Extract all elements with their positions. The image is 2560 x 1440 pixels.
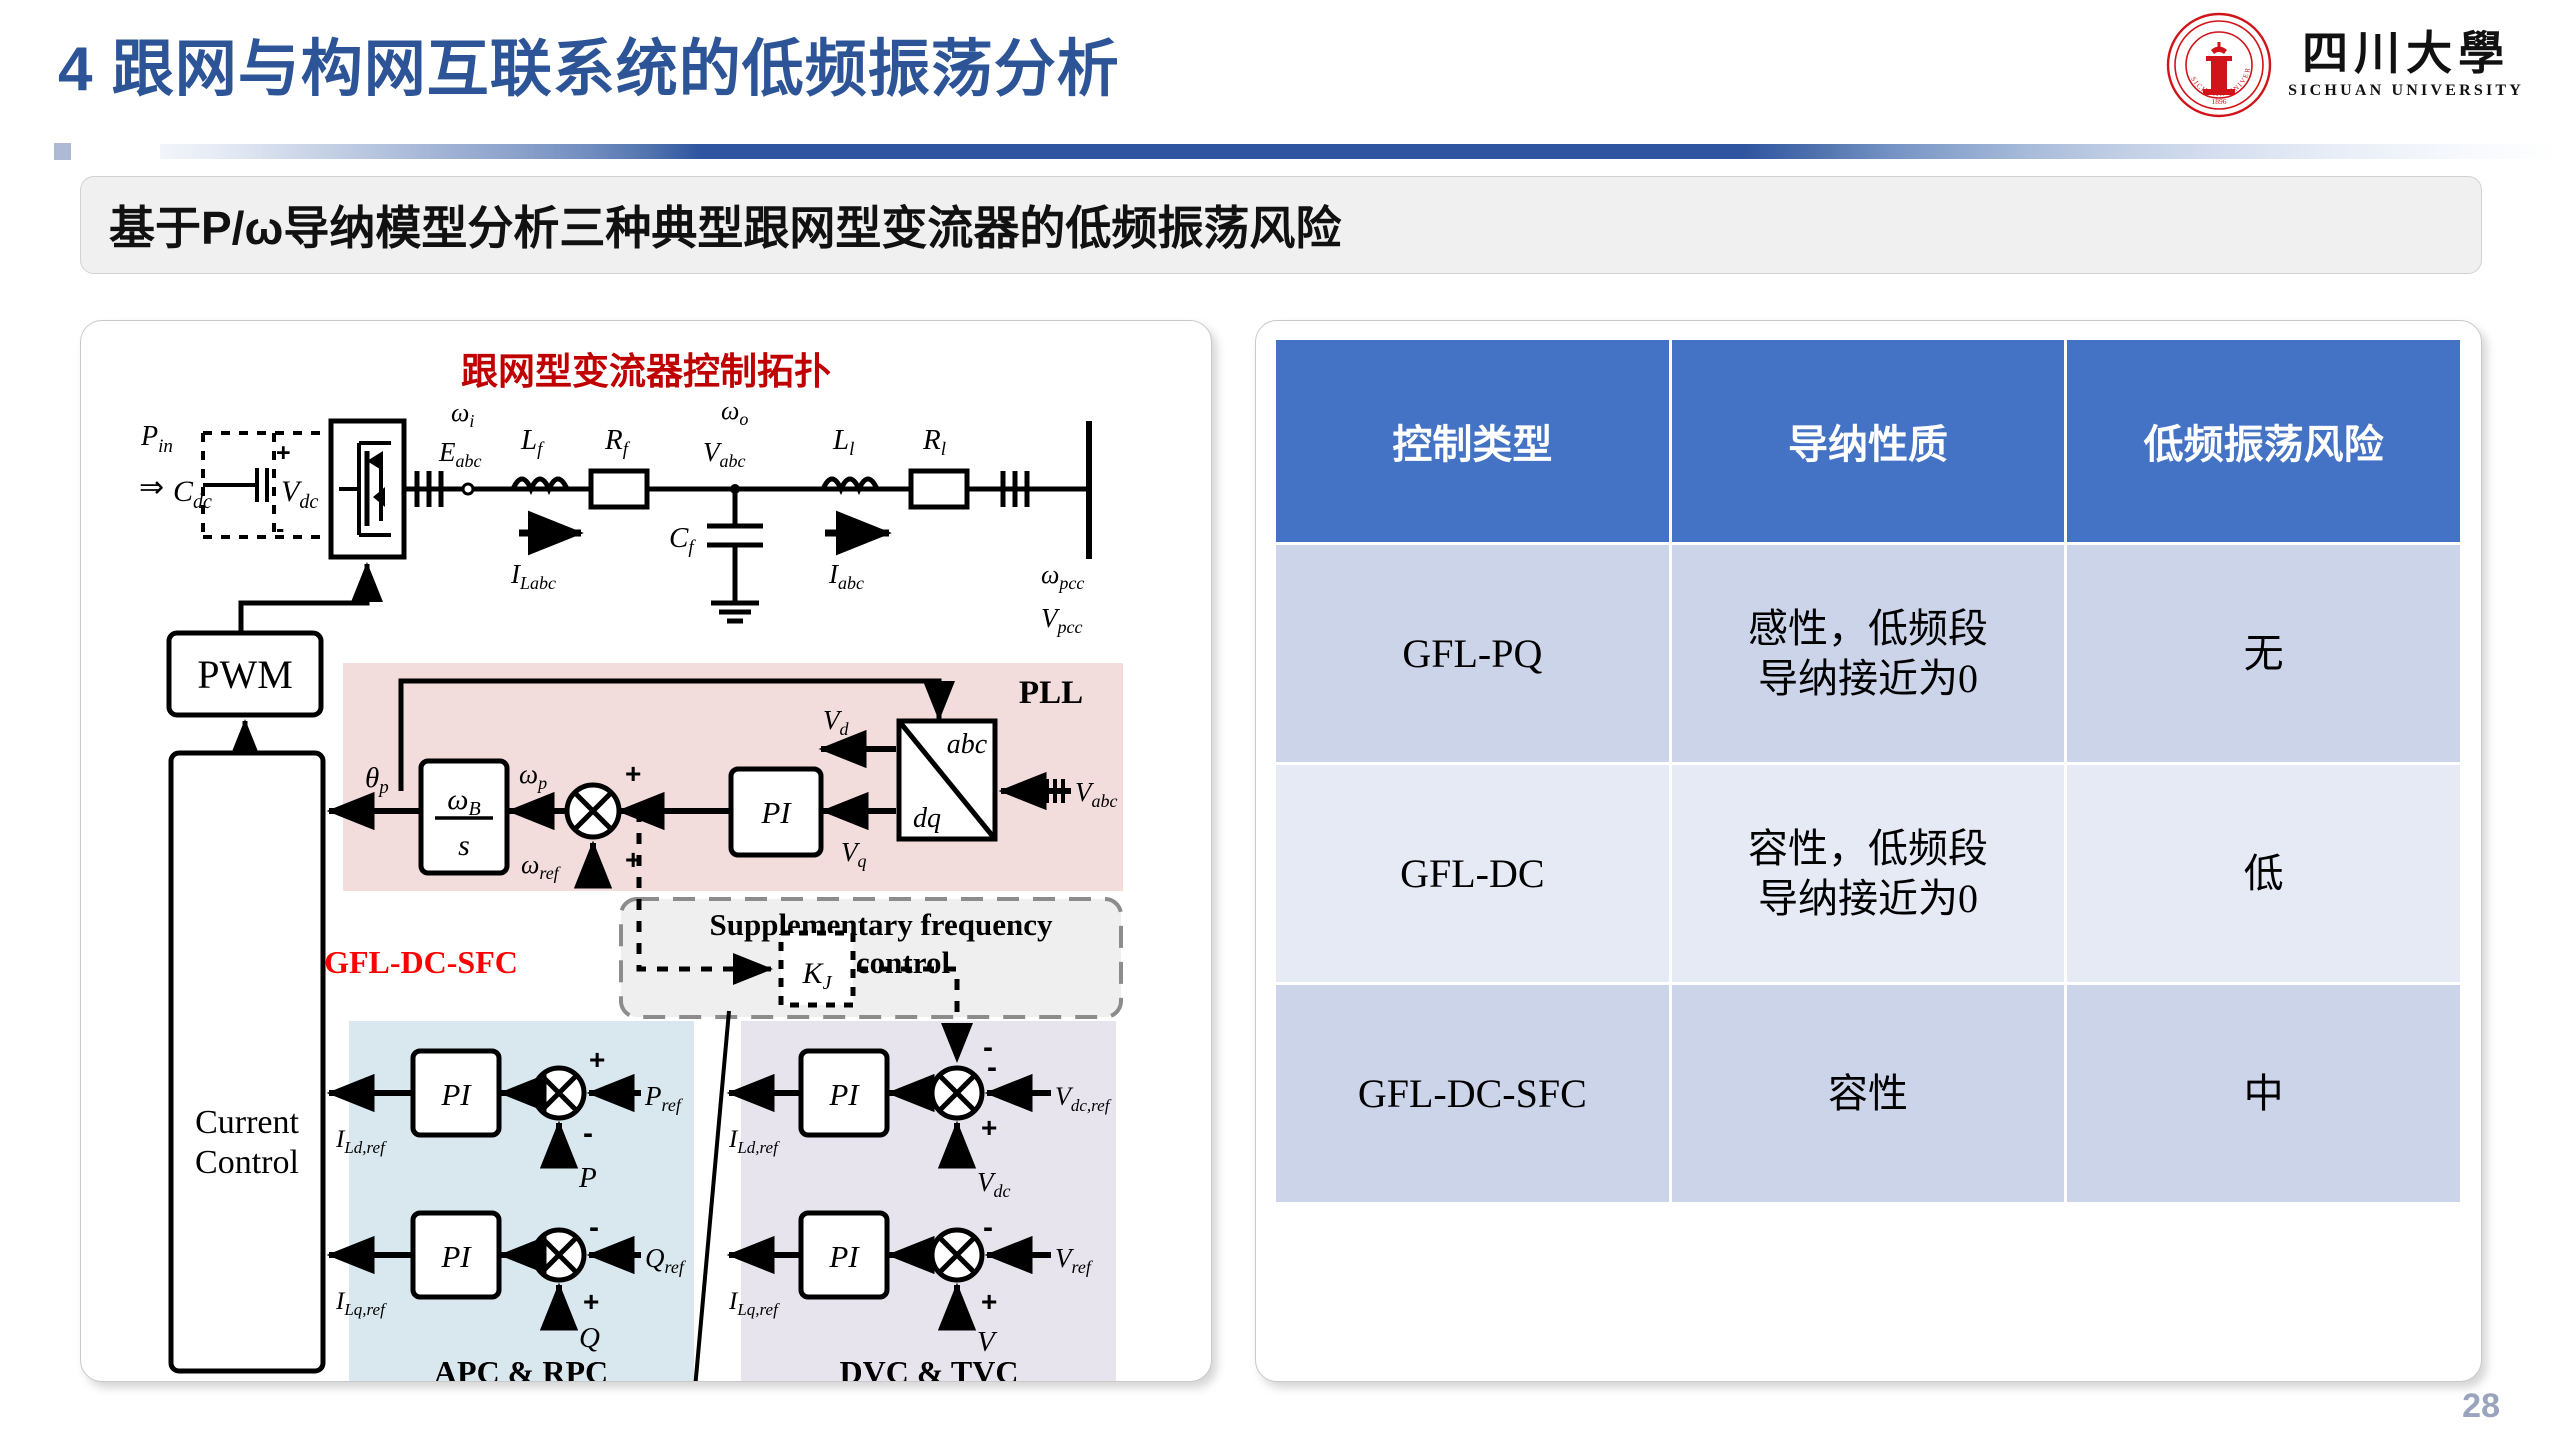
sign-plus-dc: + (276, 439, 291, 467)
label-p: P (578, 1162, 597, 1194)
table-row: GFL-PQ 感性，低频段 导纳接近为0 无 (1276, 545, 2460, 762)
subtitle-box: 基于P/ω导纳模型分析三种典型跟网型变流器的低频振荡风险 (80, 176, 2482, 274)
group-separator-slash (691, 1011, 729, 1381)
apc-rpc-region-bg (349, 1021, 694, 1381)
divider-gradient-bar (160, 144, 2560, 159)
page-title: 4 跟网与构网互联系统的低频振荡分析 (58, 18, 1120, 108)
abc-label: abc (947, 729, 988, 760)
university-name-cn: 四川大學 (2302, 30, 2510, 78)
pwm-block-label: PWM (197, 652, 293, 697)
label-v-pcc: Vpcc (1041, 603, 1082, 637)
cell-admittance-line2: 导纳接近为0 (1673, 654, 2064, 704)
filter-resistor-rf (591, 471, 647, 507)
apc-summing-junction (534, 1068, 584, 1118)
pll-pi-label: PI (760, 795, 792, 830)
cell-admittance: 容性，低频段 导纳接近为0 (1672, 765, 2065, 982)
current-control-label-2: Control (195, 1144, 299, 1181)
label-omega-pcc: ωpcc (1041, 560, 1084, 593)
university-logo: SICHUAN UNIVERSITY 1896 四川大學 SICHUAN UNI… (2166, 12, 2524, 118)
cell-admittance: 容性 (1672, 985, 2065, 1202)
cell-admittance: 感性，低频段 导纳接近为0 (1672, 545, 2065, 762)
tvc-sign-plus: + (981, 1286, 997, 1317)
pll-sign-plus-top: + (625, 758, 641, 789)
pwm-to-converter-line (241, 564, 367, 631)
label-v-dc: Vdc (281, 475, 318, 513)
apc-sign-plus: + (589, 1044, 605, 1075)
tvc-sign-minus: - (983, 1211, 993, 1244)
tvc-pi-label: PI (828, 1239, 860, 1274)
label-v-abc-top: Vabc (703, 437, 746, 471)
node-e-abc (463, 484, 473, 494)
filter-capacitor-cf (707, 489, 763, 621)
current-control-label-1: Current (195, 1104, 299, 1141)
cell-admittance-line1: 感性，低频段 (1673, 604, 2064, 654)
label-ll: Ll (832, 424, 854, 460)
dvc-summing-junction (932, 1068, 982, 1118)
table-header-risk: 低频振荡风险 (2067, 340, 2460, 542)
label-omega-i: ωi (451, 398, 474, 431)
cell-control-type: GFL-DC (1276, 765, 1669, 982)
pll-summing-junction (567, 785, 619, 837)
dq-label: dq (913, 803, 941, 834)
table-row: GFL-DC-SFC 容性 中 (1276, 985, 2460, 1202)
label-cf: Cf (669, 522, 696, 558)
sichuan-university-seal-icon: SICHUAN UNIVERSITY 1896 (2166, 12, 2272, 118)
label-i-labc: ILabc (510, 559, 556, 593)
converter-control-topology-diagram: Pin ⇒ Cdc Vdc + - ωi Eabc Lf (81, 321, 1211, 1381)
dvc-pi-label: PI (828, 1077, 860, 1112)
cell-risk: 无 (2067, 545, 2460, 762)
subtitle-text: 基于P/ω导纳模型分析三种典型跟网型变流器的低频振荡风险 (109, 192, 1341, 258)
current-control-block (171, 753, 323, 1371)
table-row: GFL-DC 容性，低频段 导纳接近为0 低 (1276, 765, 2460, 982)
rpc-pi-label: PI (440, 1239, 472, 1274)
label-q: Q (579, 1322, 600, 1354)
label-lf: Lf (520, 424, 545, 460)
table-header-row: 控制类型 导纳性质 低频振荡风险 (1276, 340, 2460, 542)
diagram-panel: 跟网型变流器控制拓扑 Pin ⇒ Cdc Vdc (80, 320, 1212, 1382)
dvc-tvc-label: DVC & TVC (840, 1354, 1019, 1381)
svg-text:1896: 1896 (2212, 97, 2227, 106)
oscillation-risk-table: 控制类型 导纳性质 低频振荡风险 GFL-PQ 感性，低频段 导纳接近为0 无 … (1273, 337, 2463, 1205)
dvc-sign-plus: + (981, 1112, 997, 1143)
svg-text:SICHUAN UNIVERSITY: SICHUAN UNIVERSITY (2166, 12, 2252, 98)
line-resistor-rl (911, 471, 967, 507)
gfl-dc-sfc-tag: GFL-DC-SFC (324, 944, 518, 980)
rpc-sign-minus: - (589, 1211, 599, 1244)
cell-risk: 中 (2067, 985, 2460, 1202)
cell-admittance-line1: 容性 (1673, 1069, 2064, 1119)
cell-control-type: GFL-PQ (1276, 545, 1669, 762)
tvc-summing-junction (932, 1230, 982, 1280)
table-header-control-type: 控制类型 (1276, 340, 1669, 542)
s-label: s (458, 829, 470, 862)
label-rf: Rf (604, 424, 631, 460)
cell-admittance-line2: 导纳接近为0 (1673, 874, 2064, 924)
apc-pi-label: PI (440, 1077, 472, 1112)
cell-control-type: GFL-DC-SFC (1276, 985, 1669, 1202)
dvc-sign-minus-ref: - (987, 1051, 997, 1084)
page-number: 28 (2462, 1387, 2500, 1426)
dvc-tvc-region-bg (741, 1021, 1116, 1381)
header-divider (0, 140, 2560, 162)
label-e-abc: Eabc (438, 437, 482, 471)
university-wordmark: 四川大學 SICHUAN UNIVERSITY (2288, 30, 2524, 100)
apc-rpc-label: APC & RPC (434, 1354, 608, 1381)
pll-label: PLL (1019, 675, 1083, 711)
label-rl: Rl (922, 424, 946, 460)
table-header-admittance: 导纳性质 (1672, 340, 2065, 542)
rpc-sign-plus: + (583, 1286, 599, 1317)
dc-link-capacitor (203, 433, 326, 537)
university-name-en: SICHUAN UNIVERSITY (2288, 82, 2524, 100)
rpc-summing-junction (534, 1230, 584, 1280)
sfc-title-line1: Supplementary frequency (709, 907, 1053, 942)
sign-minus-dc: - (276, 515, 284, 543)
label-omega-o: ωo (721, 396, 748, 429)
power-flow-arrow-icon: ⇒ (139, 471, 164, 504)
apc-sign-minus: - (583, 1117, 593, 1150)
cell-admittance-line1: 容性，低频段 (1673, 824, 2064, 874)
label-i-abc: Iabc (828, 559, 864, 593)
cell-risk: 低 (2067, 765, 2460, 982)
label-p-in: Pin (140, 421, 173, 457)
label-c-dc: Cdc (173, 475, 212, 513)
sfc-title-line2: control (856, 945, 951, 980)
divider-square (54, 143, 71, 160)
risk-table-panel: 控制类型 导纳性质 低频振荡风险 GFL-PQ 感性，低频段 导纳接近为0 无 … (1255, 320, 2482, 1382)
